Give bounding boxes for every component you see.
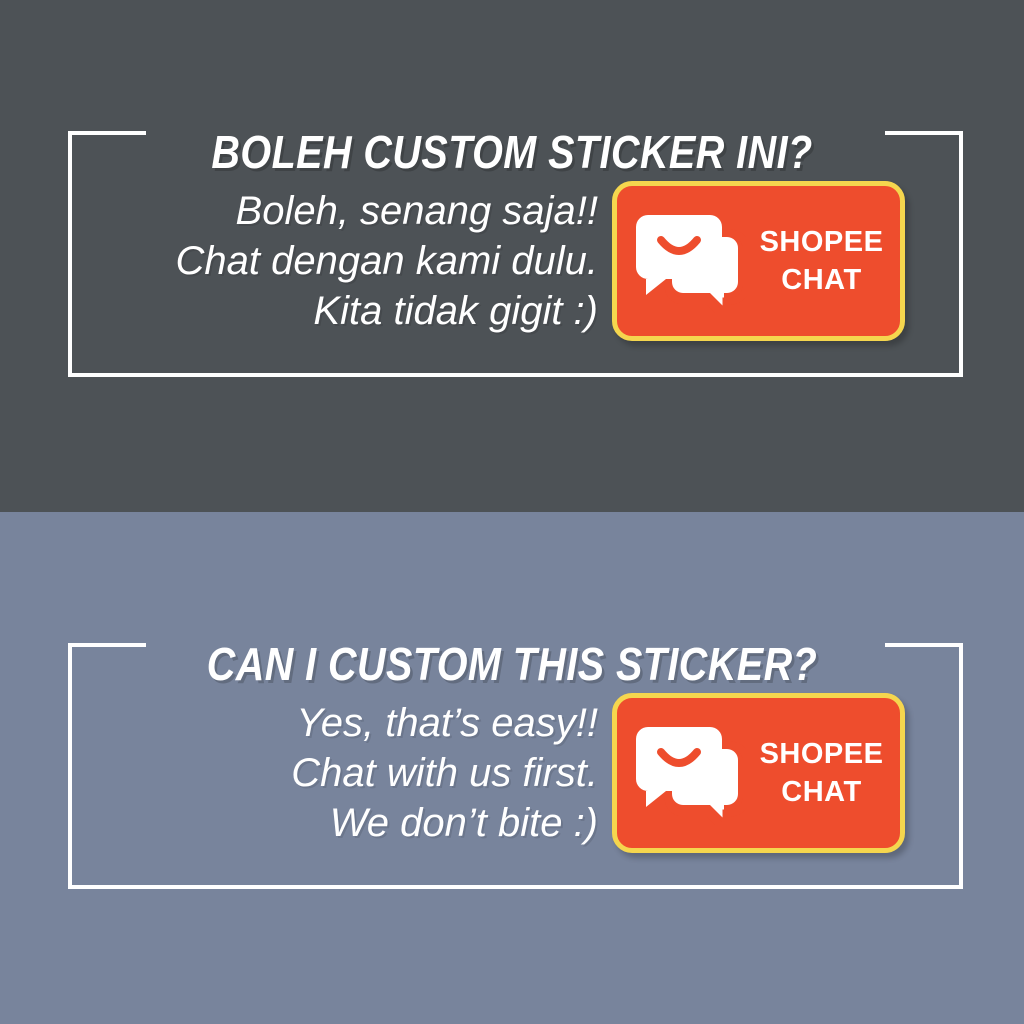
sticker-canvas: BOLEH CUSTOM STICKER INI? Boleh, senang … [0,0,1024,1024]
frame-bottom-edge [68,885,963,889]
chat-bubbles-icon [635,721,747,825]
panel-english: CAN I CUSTOM THIS STICKER? Yes, that’s e… [0,512,1024,1024]
panel-indonesian: BOLEH CUSTOM STICKER INI? Boleh, senang … [0,0,1024,512]
body-line-3: Kita tidak gigit :) [70,286,598,336]
panel-title-indonesian: BOLEH CUSTOM STICKER INI? [72,129,953,175]
shopee-chat-button-indonesian[interactable]: SHOPEE CHAT [612,181,905,341]
panel-title-english: CAN I CUSTOM THIS STICKER? [72,641,953,687]
body-line-2: Chat with us first. [70,748,598,798]
shopee-chat-button-label-english: SHOPEE CHAT [753,735,900,811]
body-line-1: Yes, that’s easy!! [70,698,598,748]
body-line-3: We don’t bite :) [70,798,598,848]
chat-label-line-1: SHOPEE [753,223,890,261]
body-line-2: Chat dengan kami dulu. [70,236,598,286]
panel-body-english: Yes, that’s easy!! Chat with us first. W… [70,698,598,848]
chat-label-line-2: CHAT [753,773,890,811]
shopee-chat-button-label-indonesian: SHOPEE CHAT [753,223,900,299]
body-line-1: Boleh, senang saja!! [70,186,598,236]
panel-body-indonesian: Boleh, senang saja!! Chat dengan kami du… [70,186,598,336]
frame-right-edge [959,131,963,377]
chat-bubbles-icon [635,209,747,313]
chat-label-line-2: CHAT [753,261,890,299]
frame-bottom-edge [68,373,963,377]
chat-label-line-1: SHOPEE [753,735,890,773]
shopee-chat-button-english[interactable]: SHOPEE CHAT [612,693,905,853]
frame-right-edge [959,643,963,889]
